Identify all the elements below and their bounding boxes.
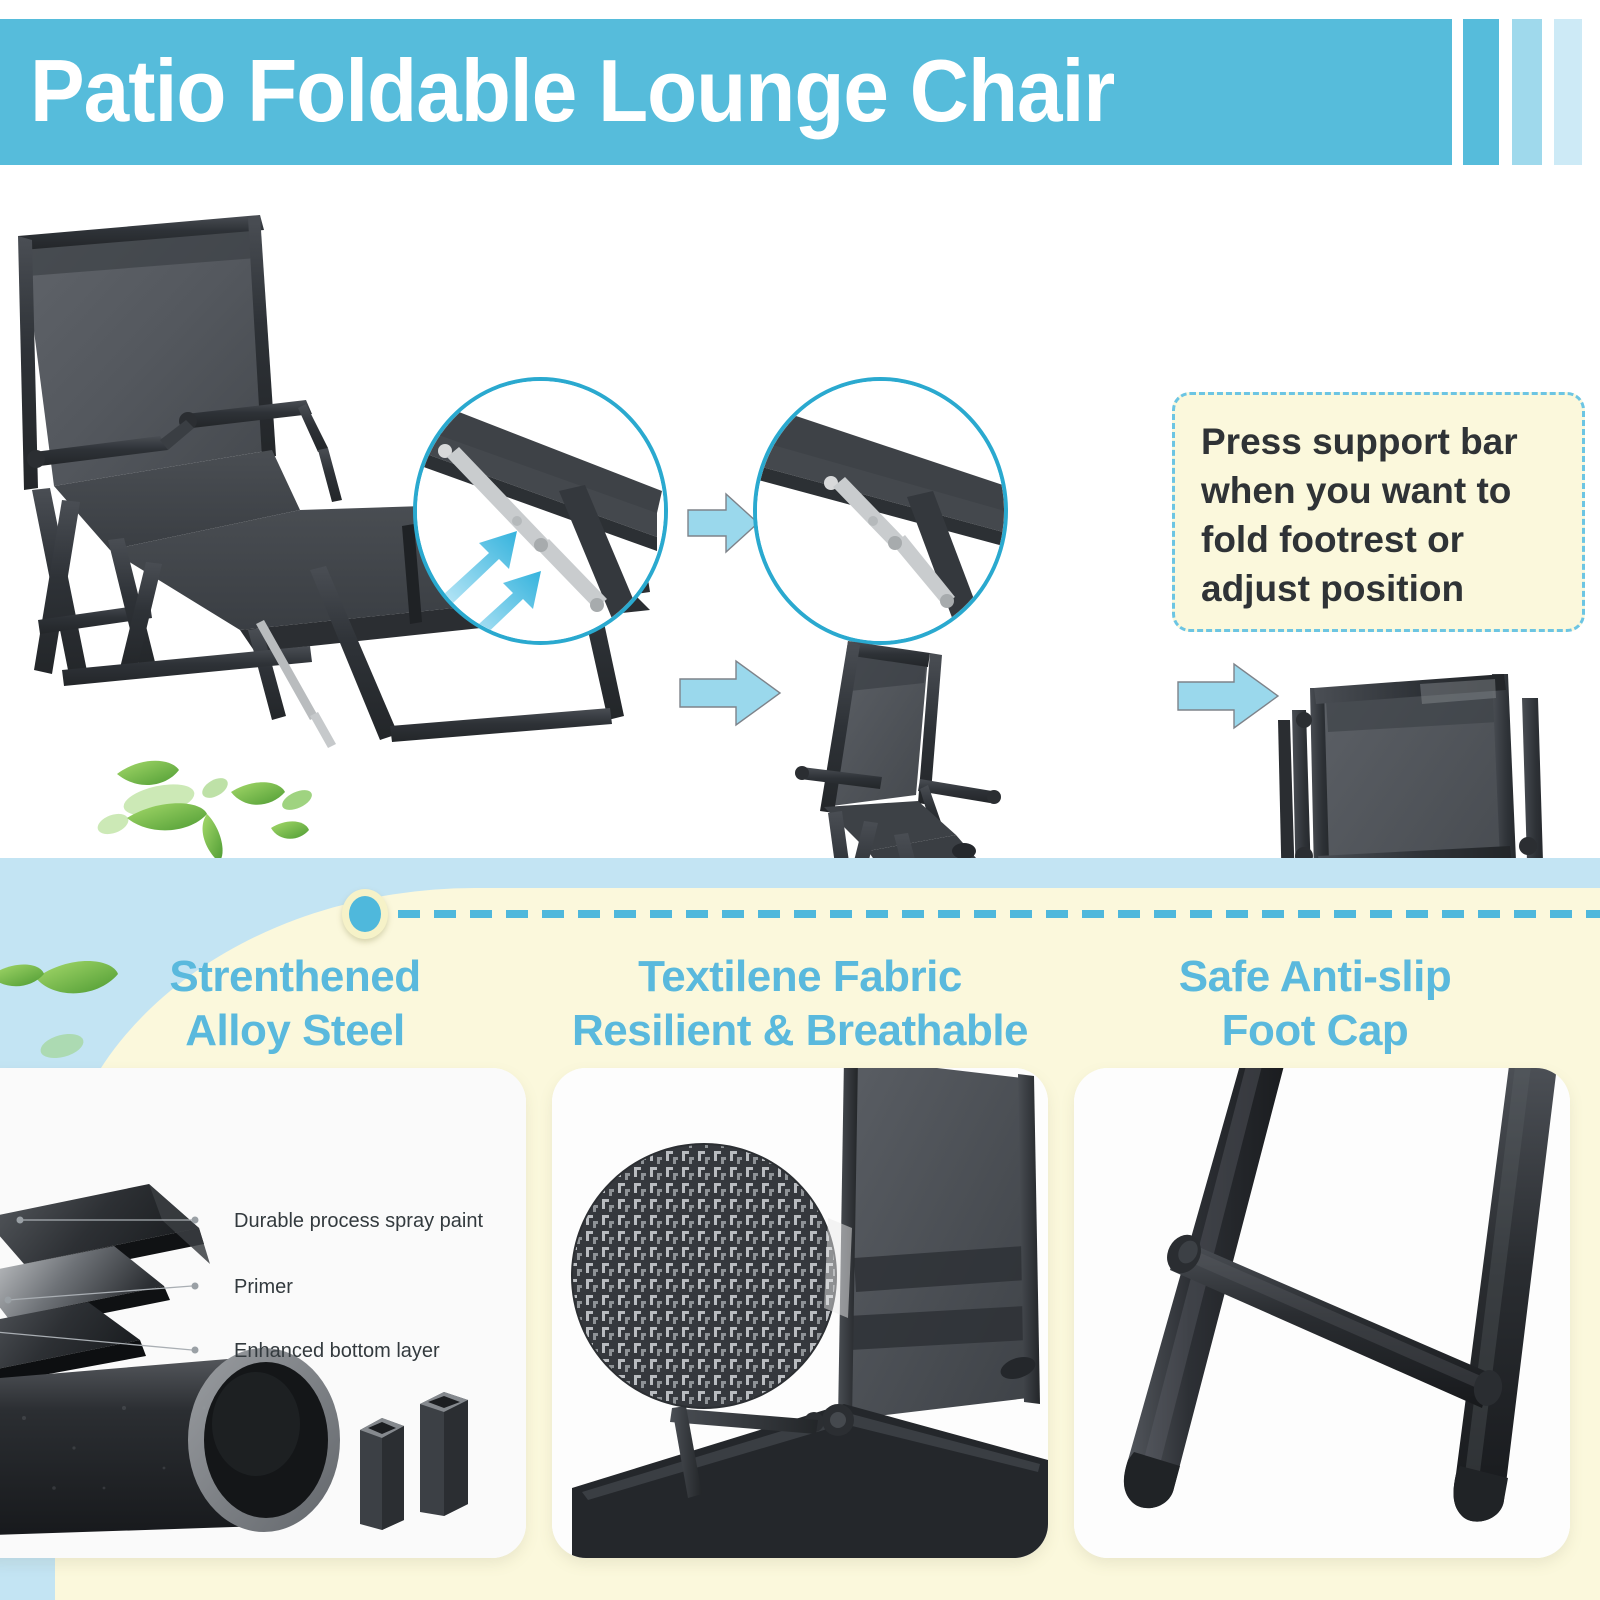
lounge-chair-upright-folding-image [778, 635, 1208, 860]
feature-heading-alloy-steel: Strenthened Alloy Steel [60, 950, 530, 1058]
infographic-page: Patio Foldable Lounge Chair [0, 0, 1600, 1600]
header-accent-bar-3 [1554, 19, 1582, 165]
header-accent-bar-1 [1463, 19, 1499, 165]
feature-3-title-line-1: Safe Anti-slip [1075, 950, 1555, 1004]
feature-heading-textilene-fabric: Textilene Fabric Resilient & Breathable [545, 950, 1055, 1058]
annotation-primer: Primer [234, 1276, 293, 1299]
feature-1-title-line-1: Strenthened [60, 950, 530, 1004]
lounge-chair-fully-folded-image [1270, 660, 1560, 860]
feature-heading-foot-cap: Safe Anti-slip Foot Cap [1075, 950, 1555, 1058]
anti-slip-foot-cap-closeup-image [1074, 1068, 1570, 1558]
page-title: Patio Foldable Lounge Chair [30, 36, 1332, 146]
product-demo-section: Press support bar when you want to fold … [0, 170, 1600, 860]
annotation-spray-paint: Durable process spray paint [234, 1210, 483, 1233]
feature-2-title-line-1: Textilene Fabric [545, 950, 1055, 1004]
step-arrow-1 [686, 490, 760, 556]
support-bar-released-detail [753, 377, 1008, 645]
feature-card-textilene-fabric [552, 1068, 1048, 1558]
callout-line-3: fold footrest or [1201, 515, 1556, 564]
support-bar-engaged-detail [413, 377, 668, 645]
step-arrow-3 [1176, 660, 1280, 732]
alloy-steel-tube-cross-section-image [0, 1068, 526, 1558]
leaf-decoration-top [55, 740, 335, 860]
feature-2-title-line-2: Resilient & Breathable [545, 1004, 1055, 1058]
callout-line-1: Press support bar [1201, 417, 1556, 466]
textilene-fabric-weave-closeup-image [552, 1068, 1048, 1558]
section-marker-dot [342, 889, 388, 939]
callout-line-4: adjust position [1201, 564, 1556, 613]
feature-3-title-line-2: Foot Cap [1075, 1004, 1555, 1058]
step-arrow-2 [678, 657, 782, 729]
feature-card-foot-cap [1074, 1068, 1570, 1558]
callout-line-2: when you want to [1201, 466, 1556, 515]
support-bar-instruction-callout: Press support bar when you want to fold … [1172, 392, 1585, 632]
header-accent-bar-2 [1512, 19, 1542, 165]
header: Patio Foldable Lounge Chair [0, 0, 1600, 170]
feature-card-alloy-steel: Durable process spray paint Primer Enhan… [0, 1068, 526, 1558]
feature-1-title-line-2: Alloy Steel [60, 1004, 530, 1058]
section-dashed-divider [398, 910, 1600, 918]
annotation-bottom-layer: Enhanced bottom layer [234, 1340, 440, 1363]
